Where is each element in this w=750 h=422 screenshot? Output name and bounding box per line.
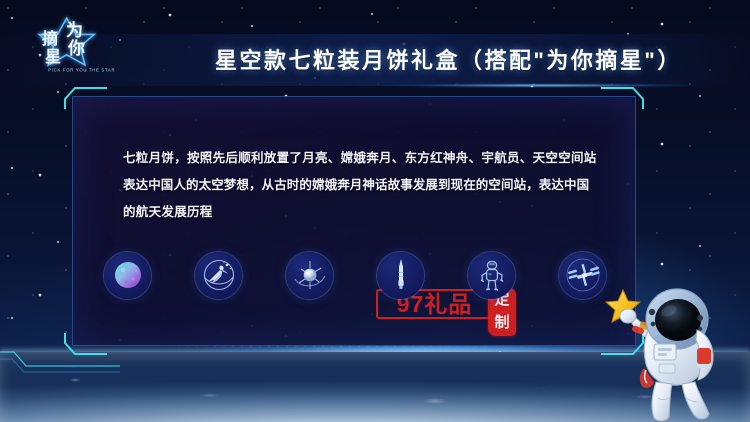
astronaut-holding-star	[596, 272, 746, 422]
body-copy-line-1: 七粒月饼，按照先后顺利放置了月亮、嫦娥奔月、东方红神舟、宇航员、天空空间站	[123, 145, 633, 172]
icon-chip-change-flying[interactable]	[195, 252, 242, 299]
title-underline-glow	[300, 84, 700, 87]
body-copy-line-3: 的航天发展历程	[123, 199, 633, 226]
brand-logo: 为 你 摘 星 PICK FOR YOU THE STAR	[22, 6, 110, 82]
icon-chip-shenzhou-rocket[interactable]	[377, 252, 424, 299]
satellite-icon	[291, 256, 329, 294]
body-copy-line-2: 表达中国人的太空梦想，从古时的嫦娥奔月神话故事发展到现在的空间站，表达中国	[123, 172, 633, 199]
content-panel: 七粒月饼，按照先后顺利放置了月亮、嫦娥奔月、东方红神舟、宇航员、天空空间站 表达…	[72, 96, 636, 346]
moon-icon	[111, 258, 145, 292]
logo-char-zhai: 摘	[42, 32, 58, 48]
product-icon-row	[104, 249, 606, 301]
astronaut-icon	[473, 256, 511, 294]
body-copy: 七粒月饼，按照先后顺利放置了月亮、嫦娥奔月、东方红神舟、宇航员、天空空间站 表达…	[123, 145, 633, 226]
shenzhou-rocket-icon	[383, 256, 419, 294]
icon-chip-astronaut[interactable]	[468, 252, 515, 299]
icon-chip-moon[interactable]	[104, 252, 151, 299]
watermark-seal-char-2: 制	[488, 311, 516, 334]
logo-char-ni: 你	[68, 40, 85, 57]
page-title: 星空款七粒装月饼礼盒（搭配"为你摘星"）	[215, 42, 740, 80]
logo-char-xing: 星	[45, 50, 61, 66]
logo-char-wei: 为	[66, 22, 83, 39]
change-flying-icon	[200, 256, 238, 294]
logo-subtitle: PICK FOR YOU THE STAR	[44, 68, 120, 73]
icon-chip-satellite[interactable]	[286, 252, 333, 299]
slide-stage: 星空款七粒装月饼礼盒（搭配"为你摘星"） 为 你 摘 星 PICK FOR YO…	[0, 0, 750, 422]
